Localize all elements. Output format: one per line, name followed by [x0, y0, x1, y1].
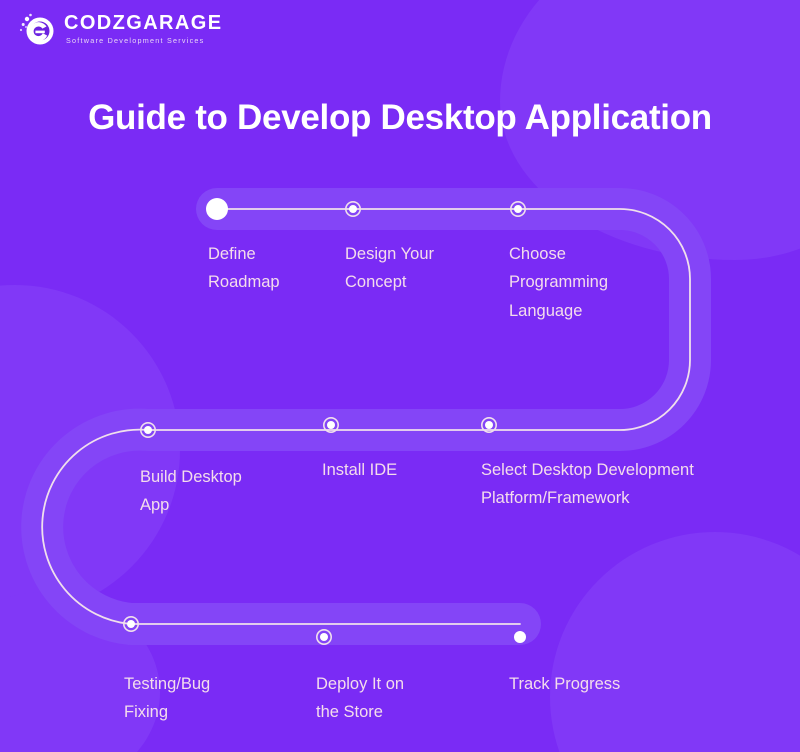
roadmap-path: [0, 0, 800, 752]
node-marker-step-1[interactable]: [206, 198, 228, 220]
node-marker-step-5[interactable]: [327, 421, 335, 429]
node-marker-step-2[interactable]: [349, 205, 357, 213]
step-label-build-desktop-app: Build Desktop App: [140, 463, 290, 520]
node-marker-step-3[interactable]: [514, 205, 522, 213]
node-marker-step-6[interactable]: [144, 426, 152, 434]
node-marker-step-4[interactable]: [485, 421, 493, 429]
node-marker-step-8[interactable]: [320, 633, 328, 641]
node-marker-step-7[interactable]: [127, 620, 135, 628]
step-label-testing-bug-fixing: Testing/Bug Fixing: [124, 670, 274, 727]
step-label-choose-programming-language: Choose Programming Language: [509, 240, 679, 325]
node-marker-step-9[interactable]: [514, 631, 526, 643]
step-label-track-progress: Track Progress: [509, 670, 699, 698]
infographic-canvas: CODZGARAGE Software Development Services…: [0, 0, 800, 752]
step-label-select-desktop-development-platform: Select Desktop Development Platform/Fram…: [481, 456, 751, 513]
step-label-design-your-concept: Design Your Concept: [345, 240, 505, 297]
step-label-install-ide: Install IDE: [322, 456, 462, 484]
step-label-deploy-it-on-the-store: Deploy It on the Store: [316, 670, 466, 727]
step-label-define-roadmap: Define Roadmap: [208, 240, 348, 297]
